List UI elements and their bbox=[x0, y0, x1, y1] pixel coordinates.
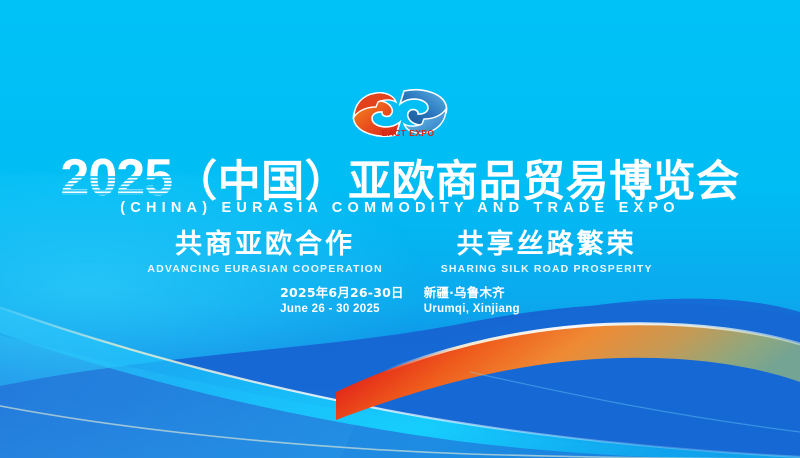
title-year: 2025 bbox=[60, 154, 172, 204]
slogan-1: 共商亚欧合作 ADVANCING EURASIAN COOPERATION bbox=[147, 230, 382, 275]
title-english: (CHINA) EURASIA COMMODITY AND TRADE EXPO bbox=[0, 200, 800, 216]
event-date-chinese: 2025年6月26-30日 bbox=[280, 285, 404, 302]
event-place-english: Urumqi, Xinjiang bbox=[424, 302, 520, 318]
event-place-column: 新疆·乌鲁木齐 Urumqi, Xinjiang bbox=[424, 285, 520, 317]
event-date-english: June 26 - 30 2025 bbox=[280, 302, 404, 318]
title-chinese: （中国）亚欧商品贸易博览会 bbox=[174, 161, 740, 204]
slogan-2: 共享丝路繁荣 SHARING SILK ROAD PROSPERITY bbox=[441, 230, 653, 275]
slogan-2-english: SHARING SILK ROAD PROSPERITY bbox=[441, 263, 653, 275]
eact-expo-logo-icon: EACT EXPO bbox=[348, 85, 452, 141]
slogan-1-chinese: 共商亚欧合作 bbox=[147, 230, 382, 260]
slogan-2-chinese: 共享丝路繁荣 bbox=[441, 230, 653, 260]
event-info-bar: 2025年6月26-30日 June 26 - 30 2025 新疆·乌鲁木齐 … bbox=[0, 285, 800, 317]
expo-banner: EACT EXPO 2025 （中国）亚欧商品贸易博览会 (CHINA) EUR… bbox=[0, 0, 800, 458]
event-date-column: 2025年6月26-30日 June 26 - 30 2025 bbox=[280, 285, 404, 317]
decorative-wave-graphics bbox=[0, 0, 800, 458]
logo-container: EACT EXPO bbox=[0, 84, 800, 142]
main-title-row: 2025 （中国）亚欧商品贸易博览会 bbox=[0, 150, 800, 204]
event-place-chinese: 新疆·乌鲁木齐 bbox=[424, 285, 520, 302]
slogan-row: 共商亚欧合作 ADVANCING EURASIAN COOPERATION 共享… bbox=[0, 230, 800, 275]
slogan-1-english: ADVANCING EURASIAN COOPERATION bbox=[147, 263, 382, 275]
logo-wordmark: EACT EXPO bbox=[382, 128, 435, 138]
